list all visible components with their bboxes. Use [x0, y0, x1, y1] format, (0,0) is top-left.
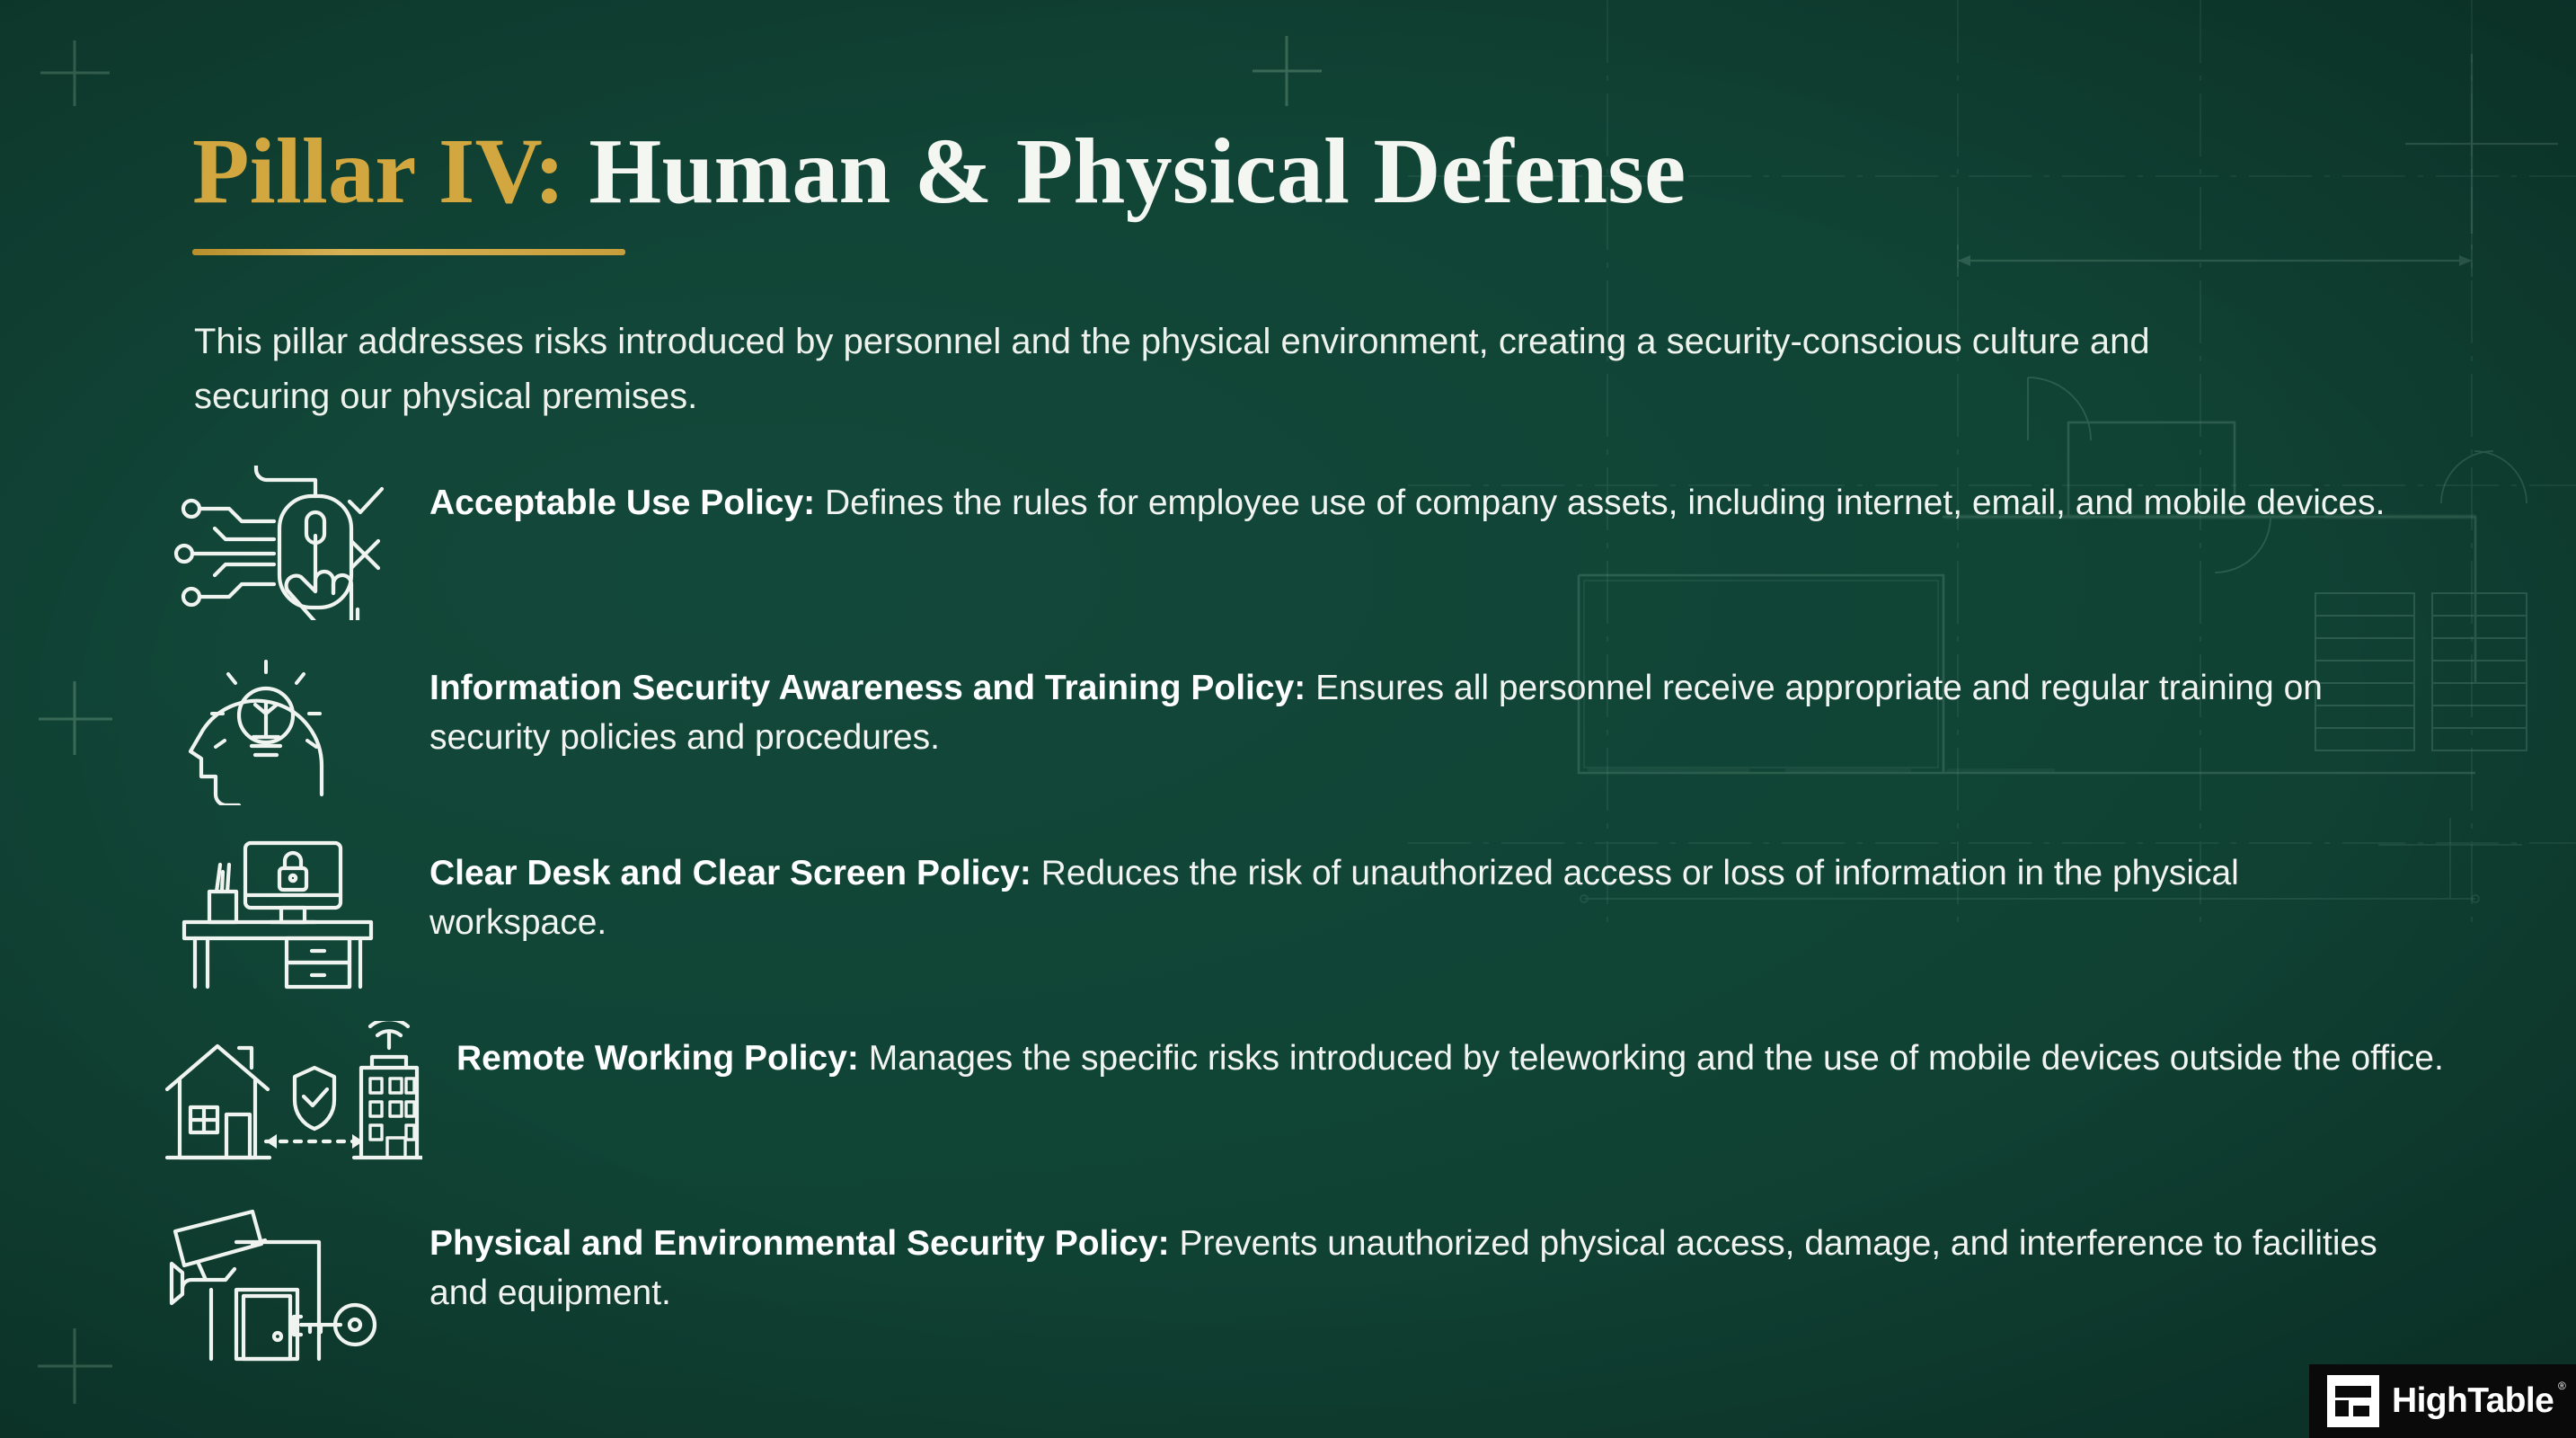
policy-body: Manages the specific risks introduced by… [869, 1039, 2444, 1078]
list-item: Remote Working Policy: Manages the speci… [162, 1023, 2498, 1208]
policy-text: Physical and Environmental Security Poli… [429, 1208, 2424, 1318]
head-lightbulb-icon [162, 649, 395, 806]
hightable-logo-mark [2327, 1375, 2379, 1427]
mouse-hand-circuit-icon [162, 464, 395, 621]
policy-text: Information Security Awareness and Train… [429, 652, 2424, 763]
desk-monitor-lock-icon [162, 834, 395, 991]
policy-lead: Acceptable Use Policy: [429, 484, 815, 522]
page-title-accent: Pillar IV: [192, 120, 565, 223]
policy-lead: Physical and Environmental Security Poli… [429, 1224, 1170, 1263]
camera-door-key-icon [162, 1204, 395, 1362]
page-title-main: Human & Physical Defense [589, 120, 1686, 223]
title-underline-rule [192, 249, 625, 255]
list-item: Information Security Awareness and Train… [162, 652, 2498, 838]
policy-text: Clear Desk and Clear Screen Policy: Redu… [429, 838, 2424, 948]
list-item: Acceptable Use Policy: Defines the rules… [162, 467, 2498, 652]
registered-trademark-mark: ® [2558, 1380, 2565, 1392]
hightable-logo-badge: HighTable® [2309, 1364, 2576, 1438]
policy-lead: Information Security Awareness and Train… [429, 669, 1306, 707]
list-item: Physical and Environmental Security Poli… [162, 1208, 2498, 1393]
policy-list: Acceptable Use Policy: Defines the rules… [162, 467, 2498, 1393]
policy-body: Defines the rules for employee use of co… [825, 484, 2385, 522]
policy-lead: Clear Desk and Clear Screen Policy: [429, 854, 1031, 892]
policy-text: Remote Working Policy: Manages the speci… [456, 1023, 2451, 1083]
title-block: Pillar IV: Human & Physical Defense [192, 121, 1686, 255]
policy-text: Acceptable Use Policy: Defines the rules… [429, 467, 2424, 528]
page-subtitle: This pillar addresses risks introduced b… [194, 315, 2171, 424]
page-title: Pillar IV: Human & Physical Defense [192, 121, 1686, 222]
house-shield-office-icon [162, 1019, 422, 1176]
policy-lead: Remote Working Policy: [456, 1039, 859, 1078]
logo-name: HighTable [2392, 1381, 2554, 1420]
hightable-logo-text: HighTable® [2392, 1381, 2554, 1421]
list-item: Clear Desk and Clear Screen Policy: Redu… [162, 838, 2498, 1023]
